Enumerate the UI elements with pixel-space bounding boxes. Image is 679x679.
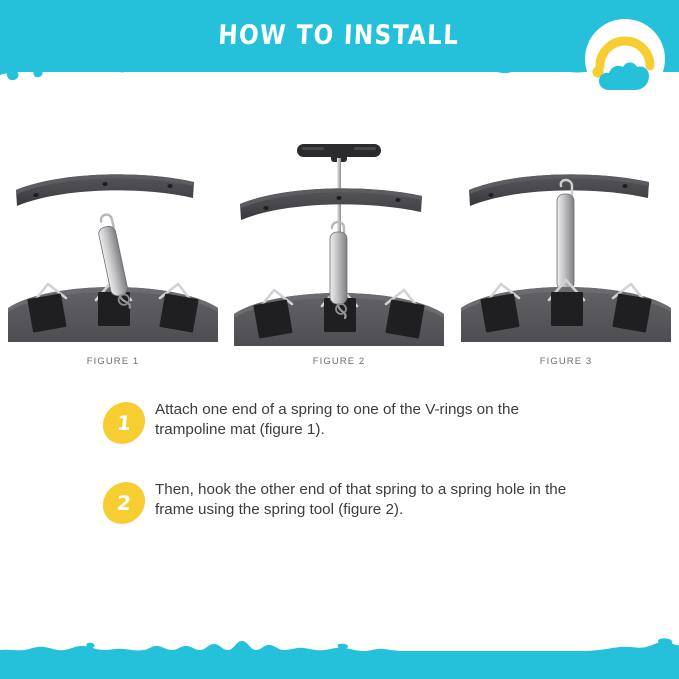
frame-bar — [16, 174, 194, 206]
figure-1: FIGURE 1 — [0, 128, 226, 383]
figure-1-caption: FIGURE 1 — [0, 356, 226, 367]
header-torn-edge — [0, 60, 679, 86]
figure-2-caption: FIGURE 2 — [226, 356, 452, 367]
figure-3-caption: FIGURE 3 — [453, 356, 679, 367]
step-number-badge-2: 2 — [101, 482, 147, 524]
instruction-steps: 1 Attach one end of a spring to one of t… — [0, 402, 679, 562]
frame-bar — [240, 188, 422, 220]
figure-2-illustration — [226, 128, 452, 356]
figure-3-illustration — [453, 128, 679, 356]
figure-1-illustration — [0, 128, 226, 356]
step-number-badge-1: 1 — [101, 402, 147, 444]
page-title: HOW TO INSTALL — [46, 20, 631, 51]
step-text-2: Then, hook the other end of that spring … — [155, 480, 575, 519]
step-item-1: 1 Attach one end of a spring to one of t… — [0, 402, 679, 460]
figure-2: FIGURE 2 — [226, 128, 452, 383]
figure-3: FIGURE 3 — [453, 128, 679, 383]
footer-torn-band — [0, 633, 679, 679]
sun-cloud-logo — [583, 17, 667, 101]
step-item-2: 2 Then, hook the other end of that sprin… — [0, 482, 679, 540]
step-text-1: Attach one end of a spring to one of the… — [155, 400, 575, 439]
figures-row: FIGURE 1 — [0, 128, 679, 383]
